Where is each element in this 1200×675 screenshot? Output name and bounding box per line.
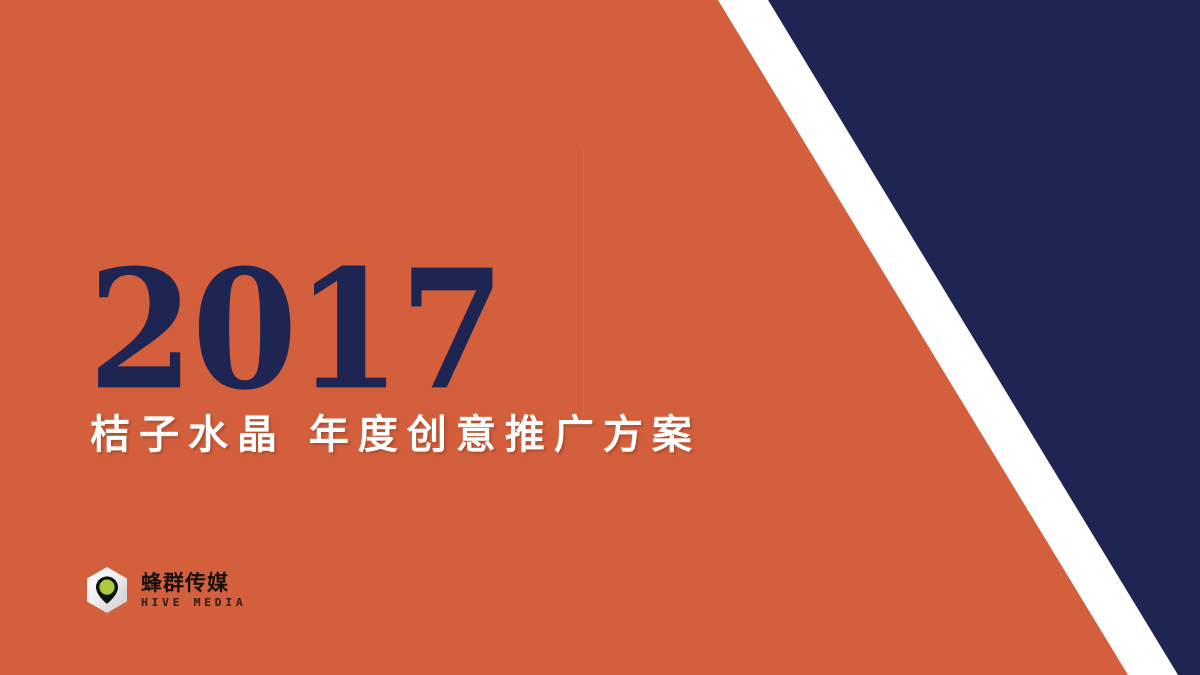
logo-name-cn: 蜂群传媒	[141, 573, 241, 594]
year-title: 2017	[88, 248, 503, 412]
slide-canvas: 2017 桔子水晶 年度创意推广方案 蜂群传媒 HIVE MEDIA	[0, 0, 1200, 675]
logo-wordmark: 蜂群传媒 HIVE MEDIA	[141, 573, 241, 608]
vertical-guide-line	[583, 148, 584, 416]
logo-name-en: HIVE MEDIA	[141, 597, 246, 608]
slide-subtitle: 桔子水晶 年度创意推广方案	[90, 412, 701, 458]
company-logo: 蜂群传媒 HIVE MEDIA	[84, 566, 241, 614]
hive-media-logo-icon	[84, 566, 130, 614]
